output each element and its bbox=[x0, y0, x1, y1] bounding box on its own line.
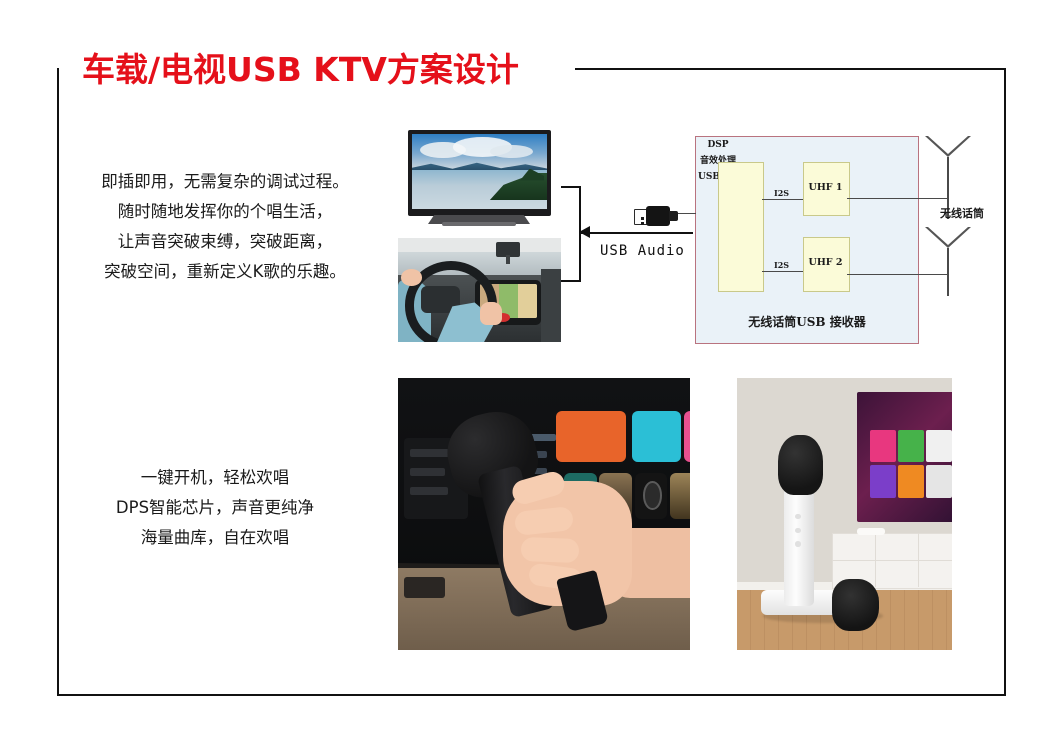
uhf1-antenna-wire bbox=[847, 198, 948, 199]
car-interior-photo bbox=[398, 238, 561, 342]
tv-screen bbox=[412, 134, 547, 209]
microphones-living-room-photo bbox=[737, 378, 952, 650]
air-vent bbox=[404, 577, 445, 599]
intro-line-3: 让声音突破束缚，突破距离， bbox=[60, 227, 390, 257]
intro-paragraph: 即插即用，无需复杂的调试过程。 随时随地发挥你的个唱生活， 让声音突破束缚，突破… bbox=[60, 167, 390, 287]
mic-button bbox=[795, 514, 801, 519]
frame-top-border bbox=[575, 68, 1006, 70]
microphone-lying-foam-head bbox=[832, 579, 879, 631]
antenna-stem bbox=[947, 248, 949, 296]
media-tile bbox=[556, 411, 626, 463]
tv-app-tile bbox=[898, 465, 924, 498]
antenna-triangle bbox=[925, 136, 971, 157]
finger bbox=[520, 537, 579, 563]
tv-app-tile bbox=[870, 465, 896, 498]
frame-left-border bbox=[57, 68, 59, 696]
microphone-standing-foam-head bbox=[778, 435, 823, 495]
features-paragraph: 一键开机，轻松欢唱 DPS智能芯片，声音更纯净 海量曲库，自在欢唱 bbox=[60, 463, 370, 553]
uhf2-antenna-wire bbox=[847, 274, 948, 275]
car-roof bbox=[398, 238, 561, 253]
panel-row bbox=[410, 487, 448, 495]
panel-row bbox=[410, 468, 445, 476]
microphone-in-car-photo bbox=[398, 378, 690, 650]
receiver-label: 无线话筒USB 接收器 bbox=[696, 313, 918, 330]
screen-tile bbox=[518, 284, 536, 318]
usb-cable-tail bbox=[669, 211, 678, 221]
uhf1-label: UHF 1 bbox=[803, 182, 848, 193]
frame-bottom-border bbox=[57, 694, 1006, 696]
intro-line-1: 即插即用，无需复杂的调试过程。 bbox=[60, 167, 390, 197]
feature-line-3: 海量曲库，自在欢唱 bbox=[60, 523, 370, 553]
usb-plug-icon bbox=[632, 205, 678, 227]
cabinet-seam bbox=[918, 533, 919, 587]
mic-button bbox=[795, 528, 801, 533]
antenna-triangle-inner bbox=[928, 227, 968, 245]
cloud bbox=[490, 145, 533, 159]
dsp-uhf2-wire bbox=[762, 271, 803, 272]
bracket-top-arm bbox=[561, 186, 581, 188]
mirror-stem bbox=[506, 255, 511, 264]
mic-button bbox=[795, 541, 801, 546]
dsp-uhf1-wire bbox=[762, 199, 803, 200]
usb-audio-label: USB Audio bbox=[600, 243, 685, 259]
i2s-label-1: I2S bbox=[774, 188, 789, 198]
usb-audio-connection-line bbox=[581, 232, 693, 234]
receiver-block-diagram: DSP 音效处理 USB上传 UHF 1 UHF 2 I2S I2S 无线话筒U… bbox=[695, 136, 919, 344]
wireless-mic-label: 无线话筒 bbox=[940, 205, 984, 221]
tv-app-tile bbox=[898, 430, 924, 463]
dsp-usb-input-wire bbox=[678, 213, 696, 214]
usb-pin bbox=[641, 222, 644, 225]
television-photo bbox=[398, 126, 561, 234]
door-panel bbox=[541, 269, 561, 342]
media-tile bbox=[684, 411, 690, 463]
cabinet-seam bbox=[875, 533, 876, 587]
tv-app-tile bbox=[926, 430, 952, 463]
media-tile bbox=[670, 473, 690, 519]
feature-line-2: DPS智能芯片，声音更纯净 bbox=[60, 493, 370, 523]
cabinet-seam bbox=[832, 560, 952, 561]
slide-canvas: 车载/电视USB KTV方案设计 即插即用，无需复杂的调试过程。 随时随地发挥你… bbox=[0, 0, 1061, 749]
uhf2-label: UHF 2 bbox=[803, 257, 848, 268]
usb-pin bbox=[641, 217, 644, 220]
arrow-head-icon bbox=[579, 226, 590, 238]
bracket-bottom-arm bbox=[561, 280, 581, 282]
dsp-block bbox=[718, 162, 764, 292]
i2s-label-2: I2S bbox=[774, 260, 789, 270]
tv-app-tile bbox=[926, 465, 952, 498]
antenna-triangle bbox=[925, 227, 971, 248]
intro-line-2: 随时随地发挥你的个唱生活， bbox=[60, 197, 390, 227]
vinyl-record-thumb bbox=[643, 481, 662, 509]
page-title: 车载/电视USB KTV方案设计 bbox=[82, 43, 519, 91]
antenna-triangle-inner bbox=[928, 136, 968, 154]
media-tile bbox=[632, 411, 682, 463]
tv-app-tile bbox=[870, 430, 896, 463]
feature-line-1: 一键开机，轻松欢唱 bbox=[60, 463, 370, 493]
driver-hand-on-screen bbox=[480, 302, 503, 325]
frame-right-border bbox=[1004, 68, 1006, 696]
tv-base bbox=[442, 222, 516, 226]
dsp-label-1: DSP bbox=[696, 137, 740, 153]
driver-hand-on-wheel bbox=[401, 269, 422, 286]
intro-line-4: 突破空间，重新定义K歌的乐趣。 bbox=[60, 257, 390, 287]
usb-plug-body bbox=[646, 206, 670, 226]
remote-control bbox=[857, 528, 885, 535]
tv-bezel bbox=[408, 130, 551, 216]
